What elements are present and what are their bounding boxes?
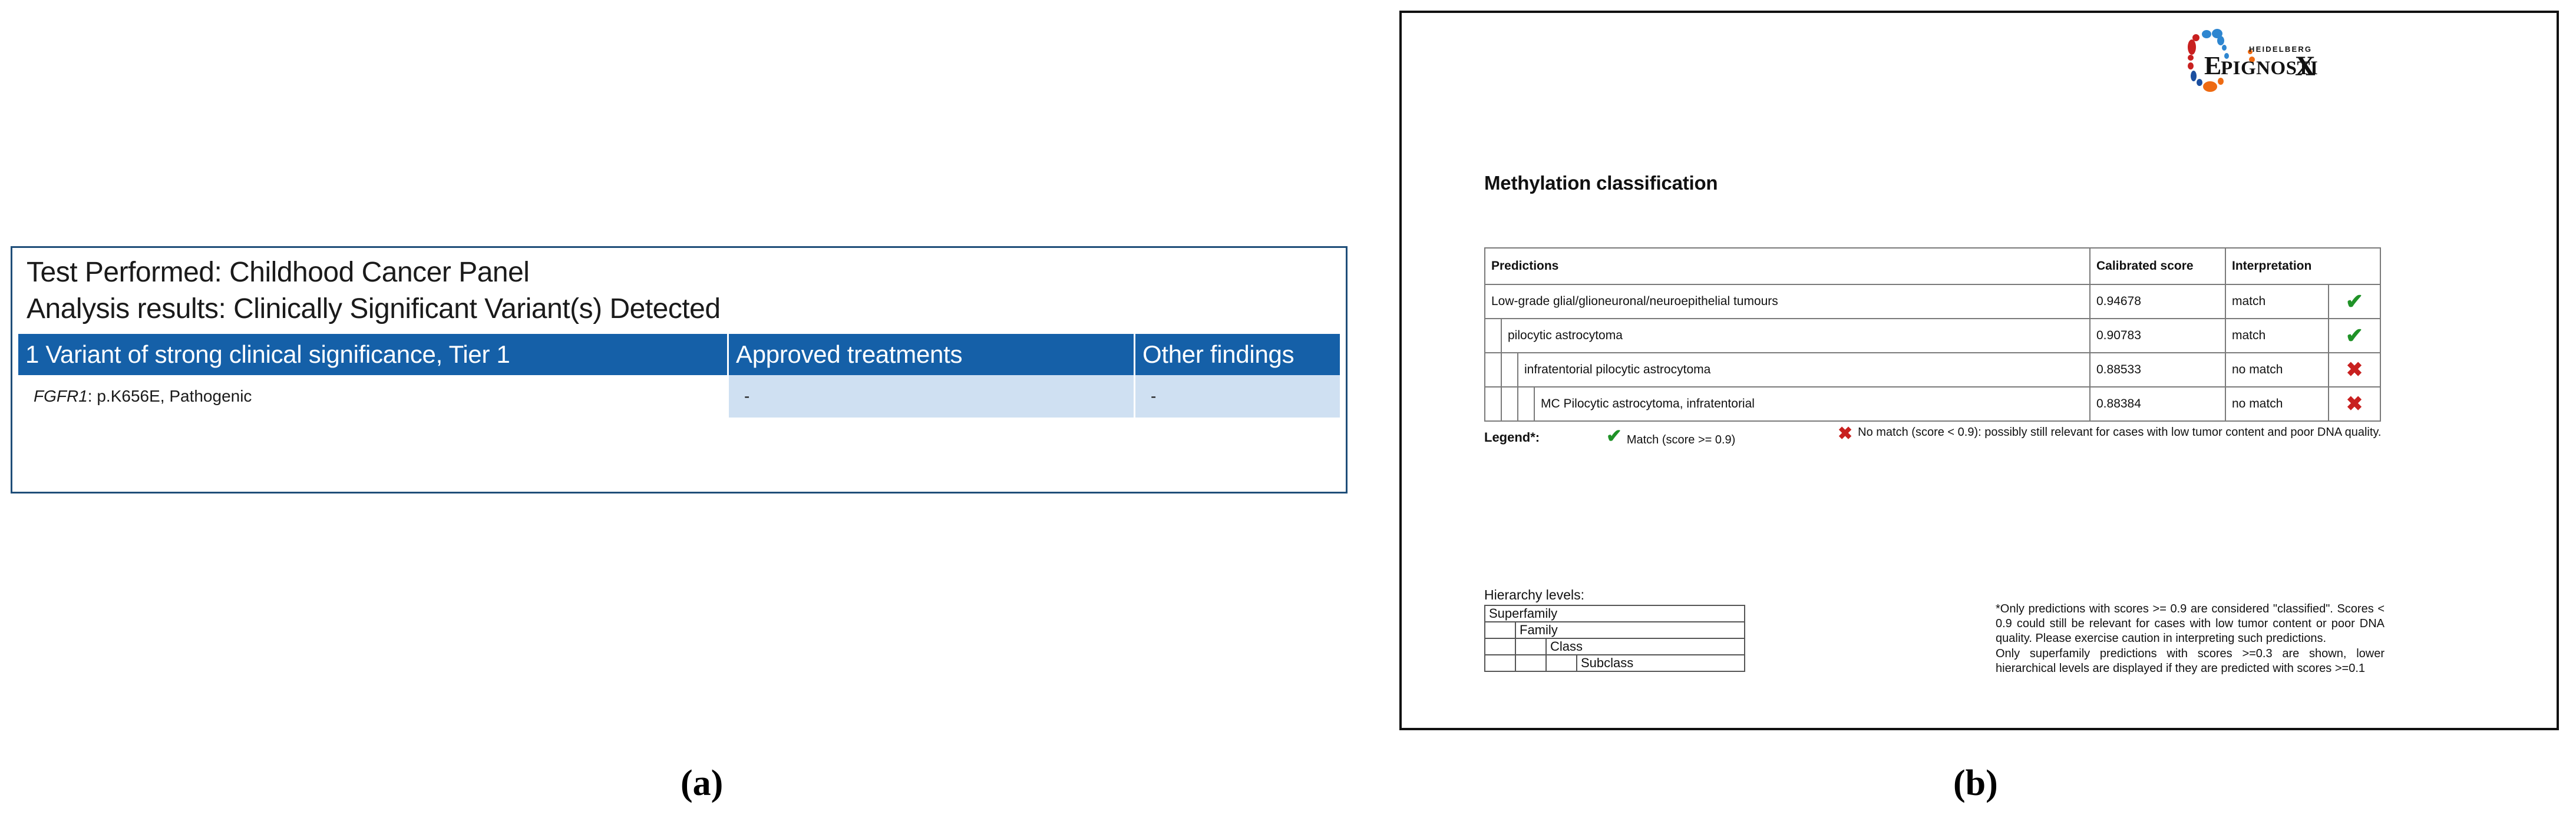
interpretation-label: no match	[2225, 353, 2329, 387]
prediction-name: Low-grade glial/glioneuronal/neuroepithe…	[1485, 284, 2090, 319]
indent-cell	[1546, 655, 1577, 671]
variant-results-table: 1 Variant of strong clinical significanc…	[18, 334, 1340, 418]
epignostix-logo: HEIDELBERG E PIGNOSTI X	[2174, 24, 2327, 100]
indent-cell	[1501, 353, 1518, 387]
prediction-name: MC Pilocytic astrocytoma, infratentorial	[1534, 387, 2090, 421]
test-performed-title: Test Performed: Childhood Cancer Panel	[27, 256, 529, 289]
check-icon: ✔	[2329, 319, 2380, 353]
column-header-approved-treatments: Approved treatments	[727, 334, 1134, 375]
legend-nomatch-text: No match (score < 0.9): possibly still r…	[1858, 425, 2381, 440]
calibrated-score: 0.94678	[2090, 284, 2225, 319]
legend-match-text: Match (score >= 0.9)	[1627, 428, 1736, 447]
variant-detail: : p.K656E, Pathogenic	[88, 387, 252, 406]
table-row: Superfamily	[1485, 605, 1745, 622]
table-row: infratentorial pilocytic astrocytoma 0.8…	[1485, 353, 2380, 387]
column-header-interpretation: Interpretation	[2225, 248, 2380, 284]
indent-cell	[1485, 622, 1515, 638]
prediction-name: pilocytic astrocytoma	[1501, 319, 2090, 353]
subfigure-caption-a: (a)	[681, 763, 723, 804]
column-header-calibrated-score: Calibrated score	[2090, 248, 2225, 284]
indent-cell	[1485, 638, 1515, 655]
table-row: Subclass	[1485, 655, 1745, 671]
panel-b-methylation-report: HEIDELBERG E PIGNOSTI X Methylation clas…	[1399, 11, 2559, 730]
indent-cell	[1501, 387, 1518, 421]
legend-nomatch-entry: ✖ No match (score < 0.9): possibly still…	[1838, 425, 2386, 443]
footnote-paragraph-1: *Only predictions with scores >= 0.9 are…	[1996, 602, 2385, 647]
hierarchy-level-class: Class	[1546, 638, 1745, 655]
interpretation-label: match	[2225, 284, 2329, 319]
indent-cell	[1515, 655, 1546, 671]
indent-cell	[1485, 319, 1501, 353]
hierarchy-levels-table: Superfamily Family Class Subclass	[1484, 605, 1745, 672]
cross-icon: ✖	[2329, 387, 2380, 421]
legend-match-entry: ✔ Match (score >= 0.9)	[1606, 428, 1735, 447]
table-row: Low-grade glial/glioneuronal/neuroepithe…	[1485, 284, 2380, 319]
svg-text:X: X	[2295, 51, 2316, 82]
indent-cell	[1518, 387, 1534, 421]
column-header-variant-significance: 1 Variant of strong clinical significanc…	[18, 334, 727, 375]
prediction-name: infratentorial pilocytic astrocytoma	[1518, 353, 2090, 387]
table-row: pilocytic astrocytoma 0.90783 match ✔	[1485, 319, 2380, 353]
hierarchy-level-family: Family	[1515, 622, 1745, 638]
page-title: Methylation classification	[1484, 172, 1718, 194]
other-findings-cell: -	[1134, 375, 1340, 418]
column-header-other-findings: Other findings	[1134, 334, 1340, 375]
approved-treatments-cell: -	[727, 375, 1134, 418]
footnote-paragraph-2: Only superfamily predictions with scores…	[1996, 647, 2385, 676]
footnote: *Only predictions with scores >= 0.9 are…	[1996, 602, 2385, 676]
svg-text:E: E	[2204, 51, 2221, 80]
interpretation-label: match	[2225, 319, 2329, 353]
table-row: Family	[1485, 622, 1745, 638]
calibrated-score: 0.90783	[2090, 319, 2225, 353]
gene-symbol: FGFR1	[34, 387, 88, 406]
hierarchy-level-subclass: Subclass	[1577, 655, 1745, 671]
calibrated-score: 0.88384	[2090, 387, 2225, 421]
cross-icon: ✖	[2329, 353, 2380, 387]
check-icon: ✔	[1606, 428, 1622, 445]
panel-a-report-box: Test Performed: Childhood Cancer Panel A…	[11, 246, 1348, 493]
predictions-table: Predictions Calibrated score Interpretat…	[1484, 247, 2381, 422]
table-row: MC Pilocytic astrocytoma, infratentorial…	[1485, 387, 2380, 421]
indent-cell	[1485, 387, 1501, 421]
table-header-row: Predictions Calibrated score Interpretat…	[1485, 248, 2380, 284]
indent-cell	[1485, 655, 1515, 671]
table-row: FGFR1: p.K656E, Pathogenic - -	[18, 375, 1340, 418]
subfigure-caption-b: (b)	[1953, 763, 1998, 804]
hierarchy-level-superfamily: Superfamily	[1485, 605, 1745, 622]
column-header-predictions: Predictions	[1485, 248, 2090, 284]
analysis-results-title: Analysis results: Clinically Significant…	[27, 293, 721, 325]
indent-cell	[1485, 353, 1501, 387]
legend-label: Legend*:	[1484, 430, 1540, 445]
variant-cell: FGFR1: p.K656E, Pathogenic	[18, 375, 727, 418]
table-row: Class	[1485, 638, 1745, 655]
interpretation-label: no match	[2225, 387, 2329, 421]
hierarchy-levels-label: Hierarchy levels:	[1484, 587, 1584, 603]
table-header-row: 1 Variant of strong clinical significanc…	[18, 334, 1340, 375]
calibrated-score: 0.88533	[2090, 353, 2225, 387]
indent-cell	[1515, 638, 1546, 655]
cross-icon: ✖	[1838, 425, 1852, 443]
check-icon: ✔	[2329, 284, 2380, 319]
